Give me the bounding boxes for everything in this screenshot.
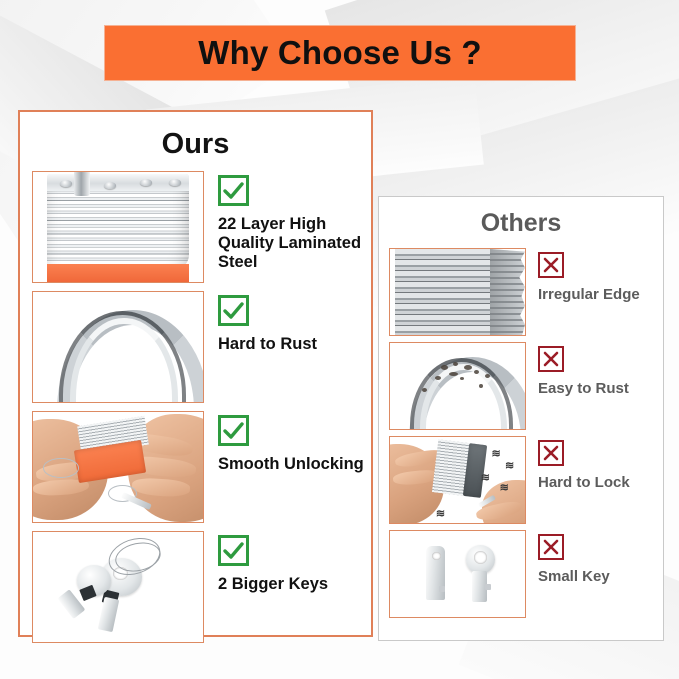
plates-art [390, 249, 525, 335]
check-icon [218, 295, 249, 326]
list-item: 2 Bigger Keys [32, 531, 371, 643]
ours-panel-heading: Ours [20, 128, 371, 161]
others-panel: Others Irregular [378, 196, 664, 641]
title-banner: Why Choose Us ? [104, 25, 576, 81]
check-icon [218, 535, 249, 566]
list-item: Hard to Rust [32, 291, 371, 403]
two-bigger-keys-photo [32, 531, 204, 643]
small-keys-art [390, 531, 525, 617]
feature-label: Smooth Unlocking [218, 455, 364, 474]
ours-panel: Ours [18, 110, 373, 637]
list-item: 22 Layer High Quality Laminated Steel [32, 171, 371, 283]
rusted-shackle-photo [389, 342, 526, 430]
feature-text: Hard to Rust [204, 291, 317, 354]
ours-feature-list: 22 Layer High Quality Laminated Steel [20, 171, 371, 643]
struggling-hands-art: ≋ ≋ ≋ ≋ ≋ [390, 437, 525, 523]
others-panel-heading: Others [379, 209, 663, 238]
page-title: Why Choose Us ? [198, 34, 482, 72]
hands-struggling-lock-photo: ≋ ≋ ≋ ≋ ≋ [389, 436, 526, 524]
two-small-keys-photo [389, 530, 526, 618]
cross-icon [538, 252, 564, 278]
cross-icon [538, 534, 564, 560]
comparison-infographic: Why Choose Us ? Ours [0, 0, 679, 679]
list-item: Small Key [389, 530, 663, 618]
list-item: ≋ ≋ ≋ ≋ ≋ Hard to Lock [389, 436, 663, 524]
feature-text: Smooth Unlocking [204, 411, 364, 474]
chrome-shackle-photo [32, 291, 204, 403]
feature-text: 22 Layer High Quality Laminated Steel [204, 171, 371, 272]
feature-label: Small Key [538, 568, 610, 585]
irregular-plates-photo [389, 248, 526, 336]
shackle-art [33, 292, 203, 402]
list-item: Irregular Edge [389, 248, 663, 336]
hands-unlocking-padlock-photo [32, 411, 204, 523]
check-icon [218, 415, 249, 446]
feature-text: Hard to Lock [526, 436, 630, 491]
feature-text: 2 Bigger Keys [204, 531, 328, 594]
feature-label: Irregular Edge [538, 286, 640, 303]
feature-label: 2 Bigger Keys [218, 575, 328, 594]
feature-text: Irregular Edge [526, 248, 640, 303]
list-item: Easy to Rust [389, 342, 663, 430]
others-feature-list: Irregular Edge [379, 248, 663, 618]
feature-text: Easy to Rust [526, 342, 629, 397]
check-icon [218, 175, 249, 206]
feature-text: Small Key [526, 530, 610, 585]
rusted-shackle-art [390, 343, 525, 429]
cross-icon [538, 346, 564, 372]
feature-label: Hard to Lock [538, 474, 630, 491]
unlocking-hands-art [33, 412, 203, 522]
laminated-steel-body-photo [32, 171, 204, 283]
keys-art [33, 532, 203, 642]
feature-label: 22 Layer High Quality Laminated Steel [218, 215, 371, 272]
cross-icon [538, 440, 564, 466]
list-item: Smooth Unlocking [32, 411, 371, 523]
padlock-body-art [33, 172, 203, 282]
feature-label: Easy to Rust [538, 380, 629, 397]
feature-label: Hard to Rust [218, 335, 317, 354]
